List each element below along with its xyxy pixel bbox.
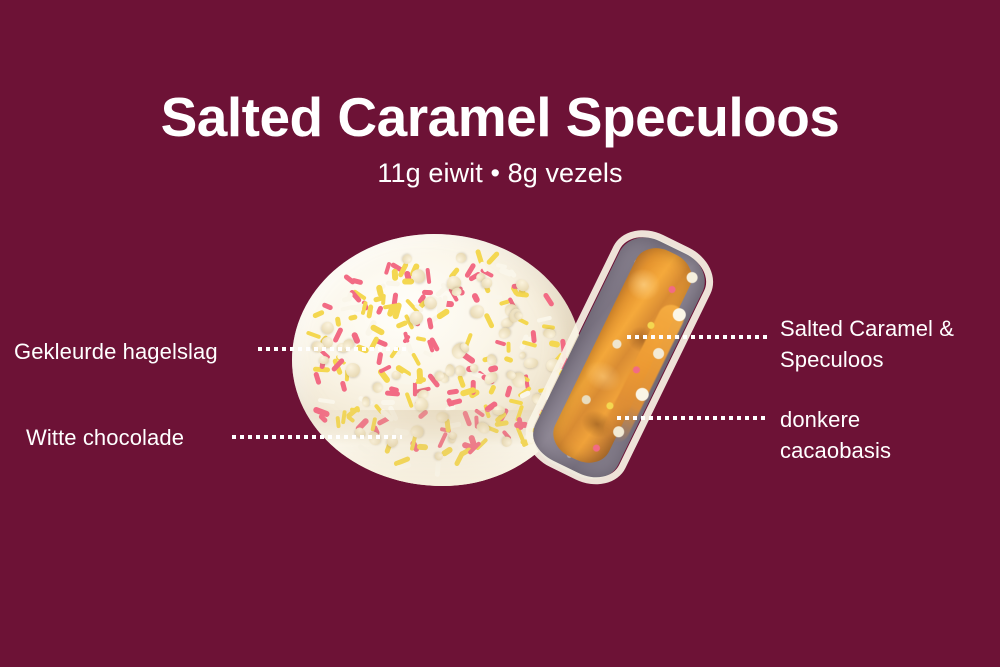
sprinkle xyxy=(491,295,502,300)
sprinkle xyxy=(474,416,479,429)
sprinkle xyxy=(435,460,441,476)
sprinkle xyxy=(445,404,456,411)
leader-line-salted-caramel xyxy=(627,335,769,339)
sprinkle xyxy=(318,398,335,405)
speculoos-crumble xyxy=(448,431,457,439)
sprinkle xyxy=(437,431,448,448)
sprinkle xyxy=(395,320,408,329)
header: Salted Caramel Speculoos 11g eiwit • 8g … xyxy=(0,86,1000,190)
sprinkle xyxy=(353,306,363,311)
sprinkle xyxy=(457,375,466,389)
sprinkle xyxy=(339,305,353,312)
sprinkle xyxy=(453,450,465,467)
speculoos-crumble xyxy=(455,252,467,264)
callout-label-hagelslag: Gekleurde hagelslag xyxy=(14,336,218,367)
speculoos-crumble xyxy=(436,411,448,422)
sprinkle xyxy=(461,442,473,451)
sprinkle xyxy=(335,316,342,327)
speculoos-crumble xyxy=(414,397,429,412)
sprinkle xyxy=(445,418,451,432)
sprinkle xyxy=(462,410,473,427)
sprinkle xyxy=(313,310,325,319)
speculoos-crumble xyxy=(409,424,425,439)
sprinkle xyxy=(459,446,472,456)
sprinkle xyxy=(354,417,370,433)
product-image xyxy=(286,228,716,493)
speculoos-crumble xyxy=(346,363,361,378)
sprinkle xyxy=(394,457,411,468)
callout-label-witte-chocolade: Witte chocolade xyxy=(26,422,184,453)
sprinkle xyxy=(448,422,462,429)
sprinkle xyxy=(318,413,329,424)
sprinkle xyxy=(371,417,378,431)
speculoos-crumble xyxy=(496,326,511,341)
sprinkle xyxy=(446,388,459,395)
sprinkle xyxy=(377,414,392,425)
sprinkle xyxy=(415,336,426,342)
sprinkle xyxy=(380,409,396,424)
sprinkle xyxy=(440,447,453,458)
sprinkle xyxy=(356,443,370,455)
sprinkle xyxy=(333,327,344,344)
sprinkle xyxy=(530,329,537,343)
product-infographic: Salted Caramel Speculoos 11g eiwit • 8g … xyxy=(0,0,1000,667)
speculoos-crumble xyxy=(361,396,370,407)
speculoos-crumble xyxy=(445,364,454,376)
leader-line-hagelslag xyxy=(258,347,410,351)
sprinkle xyxy=(409,433,417,450)
sprinkle xyxy=(473,408,484,418)
speculoos-crumble xyxy=(371,381,385,395)
sprinkle xyxy=(383,261,391,275)
sprinkle xyxy=(381,294,386,305)
speculoos-crumble xyxy=(434,452,443,461)
sprinkle xyxy=(425,267,431,284)
sprinkle xyxy=(397,378,414,385)
speculoos-crumble xyxy=(475,421,491,436)
sprinkle xyxy=(487,384,496,396)
sprinkle xyxy=(468,434,478,449)
sprinkle xyxy=(347,314,357,321)
sprinkle xyxy=(313,406,331,417)
sprinkle xyxy=(340,380,348,392)
sprinkle xyxy=(467,441,482,456)
speculoos-crumble xyxy=(452,364,467,379)
page-title: Salted Caramel Speculoos xyxy=(0,86,1000,148)
sprinkle xyxy=(471,293,480,304)
sprinkle xyxy=(367,304,374,319)
sprinkle xyxy=(439,427,451,433)
sprinkle xyxy=(345,414,355,423)
sprinkle xyxy=(341,410,347,424)
leader-line-witte-chocolade xyxy=(232,435,402,439)
sprinkle xyxy=(506,342,510,353)
sprinkle xyxy=(417,444,428,451)
sprinkle xyxy=(335,416,340,428)
sprinkle xyxy=(409,440,420,453)
sprinkle xyxy=(483,312,495,329)
callout-label-salted-caramel-speculoos: Salted Caramel & Speculoos xyxy=(780,313,954,375)
sprinkle xyxy=(504,355,514,363)
sprinkle xyxy=(386,280,400,286)
sprinkle xyxy=(306,330,322,339)
sprinkle xyxy=(394,462,411,471)
sprinkle xyxy=(495,339,507,347)
sprinkle xyxy=(384,440,394,454)
sprinkle xyxy=(369,324,385,337)
sprinkle xyxy=(496,263,508,269)
sprinkle xyxy=(417,368,424,384)
sprinkle xyxy=(322,302,334,311)
sprinkle xyxy=(449,446,459,451)
speculoos-crumble xyxy=(448,435,456,444)
sprinkle xyxy=(433,446,445,461)
sprinkle xyxy=(542,292,555,307)
speculoos-crumble xyxy=(319,356,329,364)
sprinkle xyxy=(387,406,399,423)
speculoos-crumble xyxy=(482,369,499,386)
leader-line-donkere-cacaobasis xyxy=(617,416,769,420)
sprinkle xyxy=(392,268,398,280)
nutrition-subtitle: 11g eiwit • 8g vezels xyxy=(0,156,1000,190)
callout-label-donkere-cacaobasis: donkere cacaobasis xyxy=(780,404,891,466)
sprinkle xyxy=(418,409,429,420)
sprinkle xyxy=(350,408,360,413)
sprinkle xyxy=(375,352,383,366)
sprinkle xyxy=(381,400,395,405)
white-chocolate-shell xyxy=(514,218,724,497)
sprinkle xyxy=(313,371,321,385)
sprinkle xyxy=(410,352,420,366)
sprinkle xyxy=(475,437,489,450)
speculoos-crumble xyxy=(319,320,336,337)
